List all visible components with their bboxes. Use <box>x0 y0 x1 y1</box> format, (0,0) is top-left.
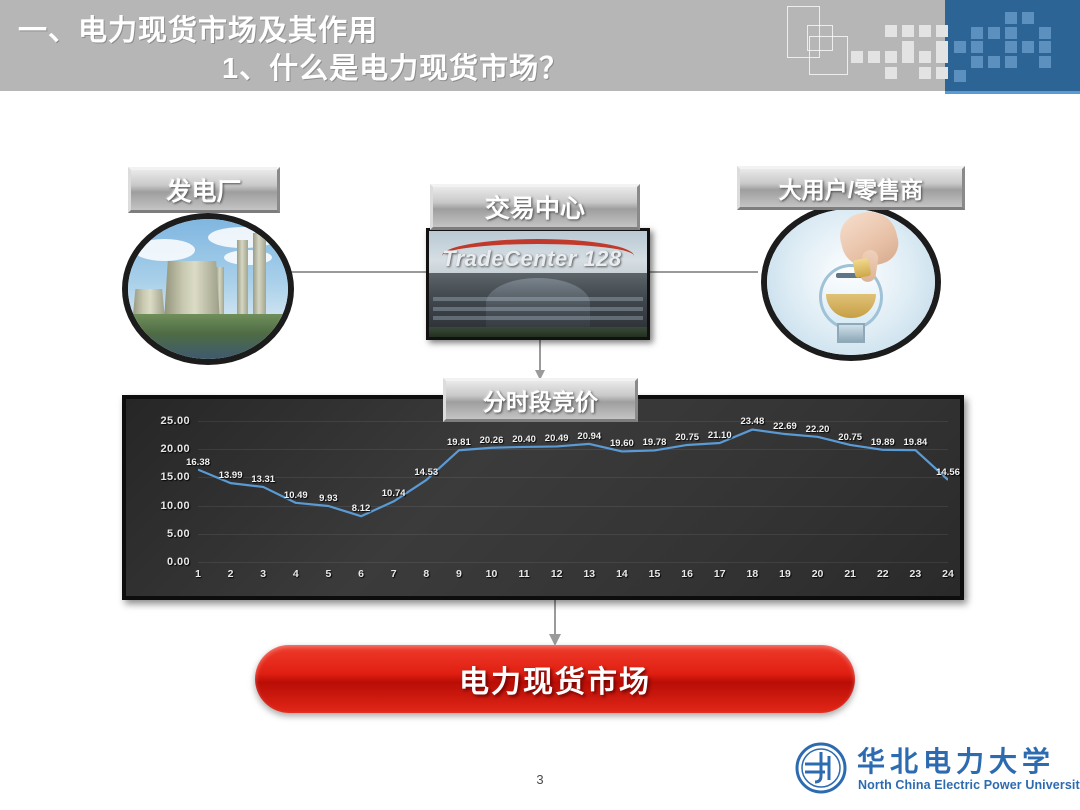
x-axis-tick: 22 <box>877 568 889 580</box>
data-point-label: 21.10 <box>708 430 732 441</box>
x-axis-tick: 9 <box>456 568 462 580</box>
data-point-label: 20.75 <box>838 432 862 443</box>
data-point-label: 23.48 <box>740 416 764 427</box>
smokestack <box>253 233 266 325</box>
node-label-trade-center[interactable]: 交易中心 <box>430 184 640 230</box>
data-point-label: 14.56 <box>936 467 960 478</box>
data-point-label: 9.93 <box>319 493 338 504</box>
deco-square <box>885 51 897 63</box>
cloud <box>134 239 195 261</box>
y-axis-tick: 20.00 <box>160 443 190 455</box>
chart-plot-area: 0.005.0010.0015.0020.0025.00123456789101… <box>198 421 948 562</box>
header-accent-underline <box>945 91 1080 94</box>
grid-line <box>198 562 948 563</box>
window-band <box>433 307 642 311</box>
header-underline <box>0 91 1080 94</box>
deco-square <box>971 41 983 53</box>
conclusion-banner-text: 电力现货市场 <box>459 657 651 701</box>
x-axis-tick: 8 <box>423 568 429 580</box>
building-rotunda <box>486 278 591 329</box>
deco-square <box>885 25 897 37</box>
data-point-label: 20.94 <box>577 431 601 442</box>
node-label-power-plant[interactable]: 发电厂 <box>128 167 280 213</box>
node-label-text: 交易中心 <box>485 189 585 225</box>
deco-square <box>1005 12 1017 24</box>
data-point-label: 22.69 <box>773 421 797 432</box>
deco-square <box>936 67 948 79</box>
window-band <box>433 297 642 301</box>
data-point-label: 19.81 <box>447 437 471 448</box>
data-point-label: 13.31 <box>251 474 275 485</box>
data-point-label: 19.60 <box>610 438 634 449</box>
deco-square <box>988 27 1000 39</box>
deco-square <box>919 51 931 63</box>
x-axis-tick: 18 <box>747 568 759 580</box>
deco-square <box>936 25 948 37</box>
x-axis-tick: 16 <box>681 568 693 580</box>
price-line-series <box>198 421 948 562</box>
data-point-label: 20.49 <box>545 433 569 444</box>
x-axis-tick: 7 <box>391 568 397 580</box>
slide-header: 一、电力现货市场及其作用 1、什么是电力现货市场？ <box>0 0 1080 91</box>
window-band <box>433 316 642 320</box>
deco-square <box>1022 41 1034 53</box>
connector-center-to-users <box>648 271 758 273</box>
x-axis-tick: 21 <box>844 568 856 580</box>
deco-square <box>1005 27 1017 39</box>
node-label-text: 发电厂 <box>166 172 241 208</box>
x-axis-tick: 11 <box>519 568 530 580</box>
large-users-photo <box>761 203 941 361</box>
university-logo: 华北电力大学 North China Electric Power Univer… <box>795 740 1067 802</box>
node-label-large-users[interactable]: 大用户/零售商 <box>737 166 965 210</box>
data-point-label: 13.99 <box>219 470 243 481</box>
data-point-label: 20.40 <box>512 434 536 445</box>
dropping-coin <box>853 257 872 278</box>
deco-square <box>902 25 914 37</box>
x-axis-tick: 17 <box>714 568 726 580</box>
y-axis-tick: 0.00 <box>167 556 190 568</box>
data-point-label: 8.12 <box>352 503 371 514</box>
x-axis-tick: 2 <box>228 568 234 580</box>
x-axis-tick: 1 <box>195 568 201 580</box>
deco-square <box>851 51 863 63</box>
x-axis-tick: 14 <box>616 568 628 580</box>
deco-square <box>1005 41 1017 53</box>
deco-square <box>1039 56 1051 68</box>
hourly-price-chart: 0.005.0010.0015.0020.0025.00123456789101… <box>122 395 964 600</box>
deco-square <box>902 51 914 63</box>
ground-water <box>128 314 288 359</box>
deco-square <box>919 25 931 37</box>
x-axis-tick: 5 <box>326 568 332 580</box>
x-axis-tick: 10 <box>486 568 498 580</box>
bid-label[interactable]: 分时段竞价 <box>443 378 638 422</box>
deco-square <box>919 67 931 79</box>
data-point-label: 10.74 <box>382 488 406 499</box>
deco-square <box>885 67 897 79</box>
page-title-line-1: 一、电力现货市场及其作用 <box>18 7 378 49</box>
trade-center-photo: TradeCenter 128 <box>426 228 650 340</box>
page-title-line-2: 1、什么是电力现货市场？ <box>222 45 569 87</box>
lightbulb-base <box>837 323 865 343</box>
data-point-label: 10.49 <box>284 490 308 501</box>
data-point-label: 16.38 <box>186 457 210 468</box>
university-name-en: North China Electric Power University <box>858 778 1080 792</box>
y-axis-tick: 10.00 <box>160 500 190 512</box>
x-axis-tick: 20 <box>812 568 824 580</box>
y-axis-tick: 25.00 <box>160 415 190 427</box>
node-label-text: 大用户/零售商 <box>779 171 923 205</box>
landscaping <box>429 327 647 337</box>
data-point-label: 19.89 <box>871 437 895 448</box>
y-axis-tick: 15.00 <box>160 471 190 483</box>
deco-square <box>1005 56 1017 68</box>
deco-square <box>1039 41 1051 53</box>
connector-center-to-bid <box>528 338 552 382</box>
x-axis-tick: 24 <box>942 568 954 580</box>
x-axis-tick: 15 <box>649 568 661 580</box>
data-point-label: 20.26 <box>480 435 504 446</box>
data-point-label: 22.20 <box>806 424 830 435</box>
deco-square <box>971 27 983 39</box>
deco-square <box>1039 27 1051 39</box>
deco-square <box>954 70 966 82</box>
connector-chart-to-banner <box>543 600 567 648</box>
deco-square <box>868 51 880 63</box>
x-axis-tick: 4 <box>293 568 299 580</box>
connector-plant-to-center <box>288 271 438 273</box>
data-point-label: 19.78 <box>643 437 667 448</box>
x-axis-tick: 13 <box>583 568 595 580</box>
data-point-label: 14.53 <box>414 467 438 478</box>
university-emblem-icon <box>795 742 847 794</box>
university-name-cn: 华北电力大学 <box>857 740 1055 780</box>
data-point-label: 19.84 <box>904 437 928 448</box>
conclusion-banner[interactable]: 电力现货市场 <box>255 645 855 713</box>
deco-square <box>954 41 966 53</box>
x-axis-tick: 12 <box>551 568 563 580</box>
bid-label-text: 分时段竞价 <box>483 383 598 417</box>
y-axis-tick: 5.00 <box>167 528 190 540</box>
deco-rect-3 <box>809 36 848 75</box>
x-axis-tick: 3 <box>260 568 266 580</box>
x-axis-tick: 6 <box>358 568 364 580</box>
x-axis-tick: 23 <box>910 568 922 580</box>
deco-square <box>971 56 983 68</box>
deco-square <box>936 51 948 63</box>
deco-square <box>1022 12 1034 24</box>
power-plant-photo <box>122 213 294 365</box>
deco-square <box>988 56 1000 68</box>
x-axis-tick: 19 <box>779 568 791 580</box>
data-point-label: 20.75 <box>675 432 699 443</box>
building-caption: TradeCenter 128 <box>442 246 638 272</box>
